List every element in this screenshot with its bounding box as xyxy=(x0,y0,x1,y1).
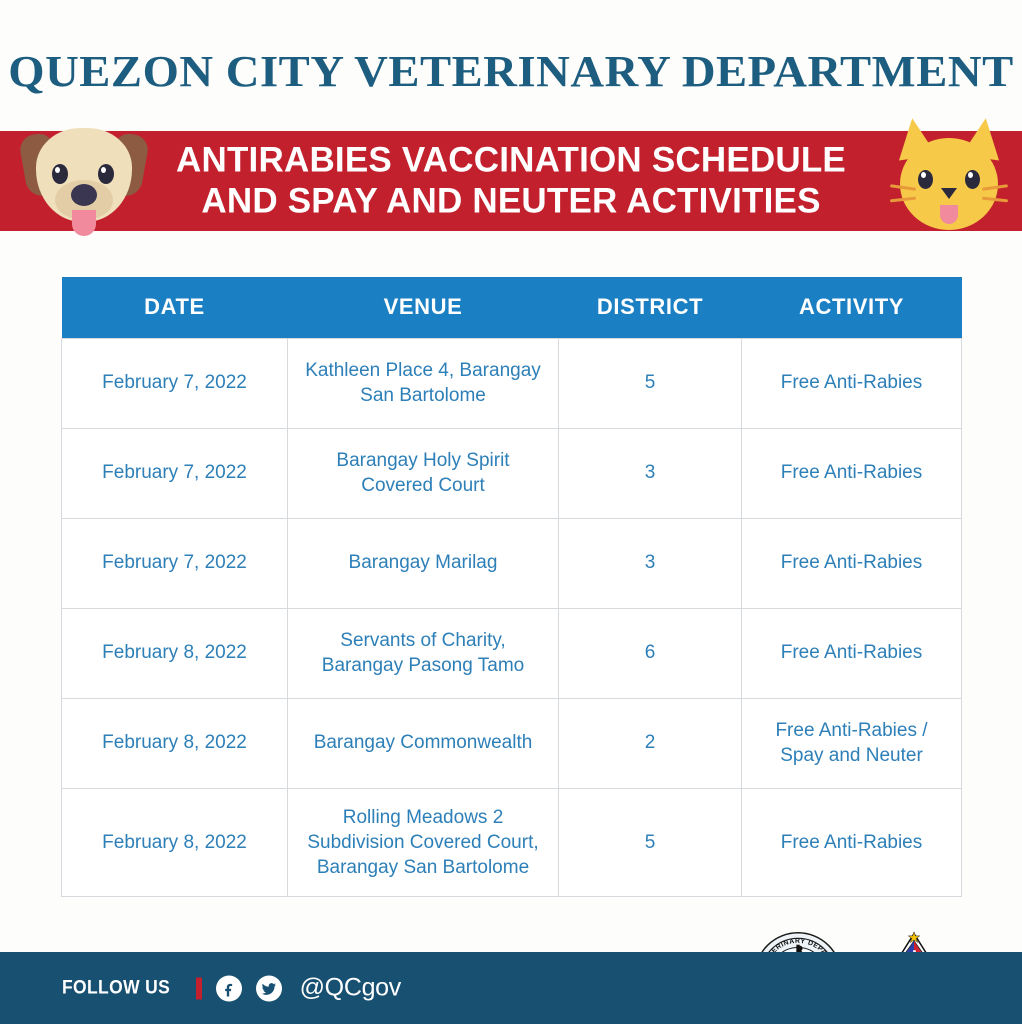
cell-district: 3 xyxy=(559,428,742,518)
cat-eye-right-icon xyxy=(965,170,980,189)
footer-bar: FOLLOW US @QCgov xyxy=(0,952,1022,1024)
cell-venue: Kathleen Place 4, Barangay San Bartolome xyxy=(288,338,559,428)
table-body: February 7, 2022 Kathleen Place 4, Baran… xyxy=(62,338,962,897)
column-header-activity: ACTIVITY xyxy=(742,277,962,338)
cell-activity: Free Anti-Rabies xyxy=(742,788,962,897)
schedule-table: DATE VENUE DISTRICT ACTIVITY February 7,… xyxy=(61,277,962,897)
cell-district: 6 xyxy=(559,608,742,698)
cell-date: February 8, 2022 xyxy=(62,698,288,788)
banner-line-2: AND SPAY AND NEUTER ACTIVITIES xyxy=(150,181,872,222)
table-row: February 8, 2022 Rolling Meadows 2 Subdi… xyxy=(62,788,962,897)
cell-activity: Free Anti-Rabies xyxy=(742,338,962,428)
table-row: February 7, 2022 Kathleen Place 4, Baran… xyxy=(62,338,962,428)
table-row: February 8, 2022 Servants of Charity, Ba… xyxy=(62,608,962,698)
schedule-table-container: DATE VENUE DISTRICT ACTIVITY February 7,… xyxy=(61,277,961,897)
cell-venue: Barangay Holy Spirit Covered Court xyxy=(288,428,559,518)
cell-date: February 7, 2022 xyxy=(62,338,288,428)
cat-nose-icon xyxy=(941,188,957,199)
follow-us-group: FOLLOW US @QCgov xyxy=(62,974,401,1003)
cell-venue: Barangay Commonwealth xyxy=(288,698,559,788)
cell-date: February 7, 2022 xyxy=(62,518,288,608)
cat-eye-left-icon xyxy=(918,170,933,189)
table-row: February 7, 2022 Barangay Marilag 3 Free… xyxy=(62,518,962,608)
cat-tongue-icon xyxy=(940,205,958,224)
table-row: February 7, 2022 Barangay Holy Spirit Co… xyxy=(62,428,962,518)
dog-eye-left-icon xyxy=(52,164,68,184)
title-container: QUEZON CITY VETERINARY DEPARTMENT xyxy=(0,46,1022,97)
facebook-icon[interactable] xyxy=(216,975,242,1001)
cell-venue: Servants of Charity, Barangay Pasong Tam… xyxy=(288,608,559,698)
table-row: February 8, 2022 Barangay Commonwealth 2… xyxy=(62,698,962,788)
dog-nose-icon xyxy=(71,184,97,206)
banner-bar: ANTIRABIES VACCINATION SCHEDULE AND SPAY… xyxy=(0,131,1022,231)
banner-line-1: ANTIRABIES VACCINATION SCHEDULE xyxy=(150,140,872,181)
cell-district: 3 xyxy=(559,518,742,608)
cell-venue: Barangay Marilag xyxy=(288,518,559,608)
cell-district: 2 xyxy=(559,698,742,788)
column-header-venue: VENUE xyxy=(288,277,559,338)
page-title: QUEZON CITY VETERINARY DEPARTMENT xyxy=(0,46,1022,97)
divider xyxy=(196,977,202,999)
twitter-icon[interactable] xyxy=(256,975,282,1001)
dog-eye-right-icon xyxy=(98,164,114,184)
cell-date: February 7, 2022 xyxy=(62,428,288,518)
table-header-row: DATE VENUE DISTRICT ACTIVITY xyxy=(62,277,962,338)
cell-district: 5 xyxy=(559,788,742,897)
cell-date: February 8, 2022 xyxy=(62,608,288,698)
poster-canvas: QUEZON CITY VETERINARY DEPARTMENT ANTIRA… xyxy=(0,0,1022,1024)
banner-heading: ANTIRABIES VACCINATION SCHEDULE AND SPAY… xyxy=(150,140,872,221)
cell-activity: Free Anti-Rabies xyxy=(742,608,962,698)
column-header-date: DATE xyxy=(62,277,288,338)
cell-district: 5 xyxy=(559,338,742,428)
cell-activity: Free Anti-Rabies / Spay and Neuter xyxy=(742,698,962,788)
cell-venue: Rolling Meadows 2 Subdivision Covered Co… xyxy=(288,788,559,897)
cell-date: February 8, 2022 xyxy=(62,788,288,897)
dog-face-icon xyxy=(22,122,146,234)
table-header: DATE VENUE DISTRICT ACTIVITY xyxy=(62,277,962,338)
social-handle[interactable]: @QCgov xyxy=(300,974,401,1003)
cell-activity: Free Anti-Rabies xyxy=(742,518,962,608)
follow-us-label: FOLLOW US xyxy=(62,977,170,999)
cell-activity: Free Anti-Rabies xyxy=(742,428,962,518)
dog-tongue-icon xyxy=(72,210,96,236)
cat-face-icon xyxy=(888,118,1010,238)
column-header-district: DISTRICT xyxy=(559,277,742,338)
